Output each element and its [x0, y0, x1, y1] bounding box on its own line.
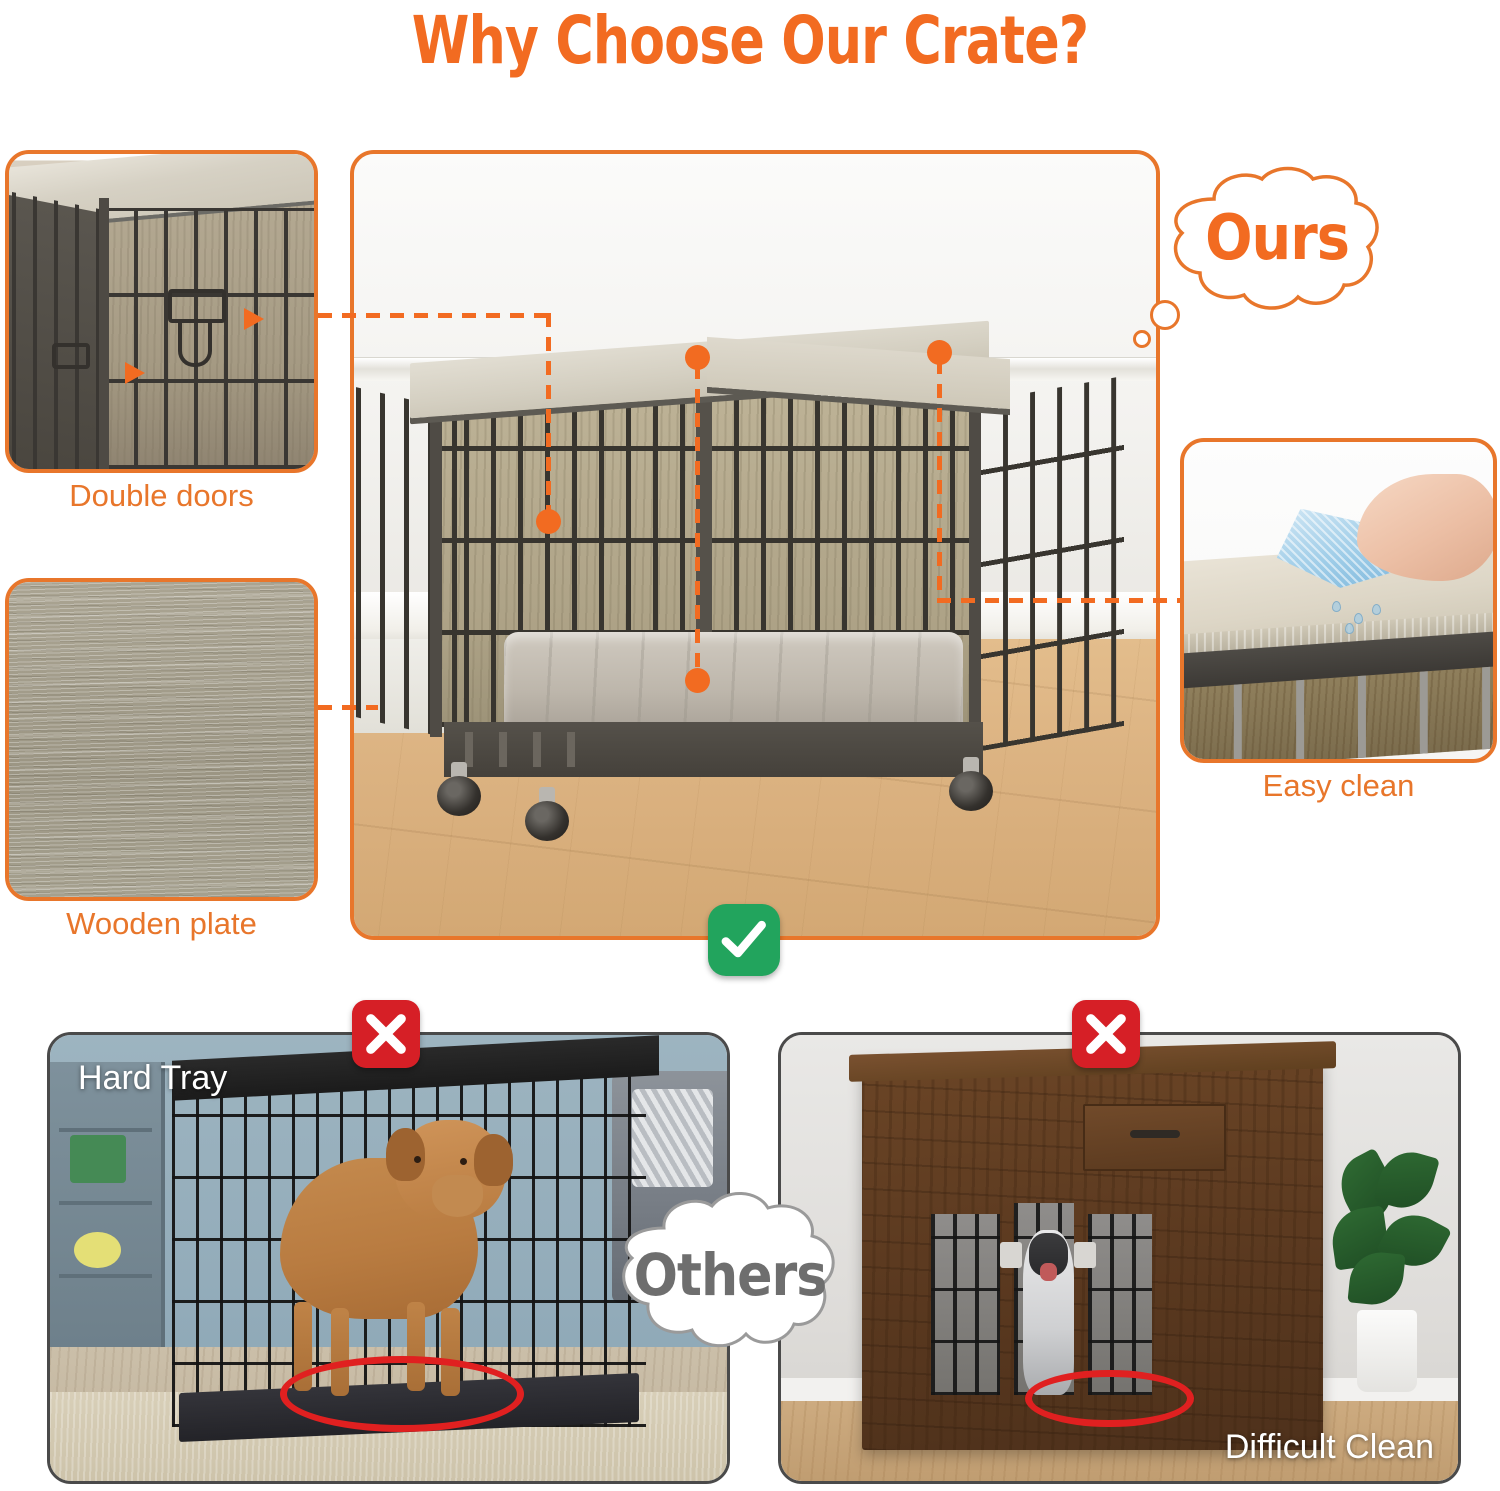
water-droplet-icon	[1345, 623, 1354, 634]
x-icon	[352, 1000, 420, 1068]
water-droplet-icon	[1354, 613, 1363, 624]
callout-dot-double-doors	[536, 509, 561, 534]
others-label: Others	[606, 1186, 854, 1364]
easy-clean-photo	[1184, 442, 1493, 759]
feature-thumb-double-doors[interactable]	[5, 150, 318, 473]
callout-line-double-doors-vert	[546, 313, 551, 521]
feature-caption-double-doors: Double doors	[5, 478, 318, 514]
callout-line-easy-clean	[937, 598, 1182, 603]
ours-label: Ours	[1152, 163, 1402, 318]
problem-highlight-ellipse	[1025, 1370, 1194, 1428]
pointer-arrow-icon	[125, 362, 145, 384]
feature-thumb-wooden-plate[interactable]	[5, 578, 318, 901]
feature-caption-wooden-plate: Wooden plate	[5, 906, 318, 942]
hero-product-panel[interactable]	[350, 150, 1160, 940]
difficult-clean-photo	[781, 1035, 1458, 1481]
x-icon	[1072, 1000, 1140, 1068]
product-crate	[410, 342, 1084, 842]
callout-line-wooden-plate	[318, 705, 378, 710]
caster-wheel	[525, 787, 569, 841]
potted-plant	[1329, 1151, 1444, 1392]
bubble-tail-small	[1133, 330, 1151, 348]
page-title: Why Choose Our Crate?	[90, 2, 1410, 79]
callout-line-top-vert	[695, 365, 700, 675]
hinge-icon	[1074, 1242, 1096, 1268]
caster-wheel	[437, 762, 481, 816]
door-latch-icon	[52, 343, 90, 369]
caster-wheel	[949, 757, 993, 811]
dog-photo	[280, 1120, 510, 1397]
wire-door	[1088, 1214, 1152, 1395]
overlay-label-difficult-clean: Difficult Clean	[1225, 1428, 1434, 1467]
hinge-icon	[1000, 1242, 1022, 1268]
hero-crate-photo	[354, 154, 1156, 936]
callout-dot-bottom	[685, 668, 710, 693]
bubble-tail-large	[1150, 300, 1180, 330]
feature-caption-easy-clean: Easy clean	[1180, 768, 1497, 804]
dog-photo	[1023, 1230, 1074, 1395]
door-latch-icon	[168, 289, 226, 323]
pointer-arrow-icon	[244, 308, 264, 330]
callout-line-right-vert	[937, 360, 942, 600]
shelf	[50, 1062, 165, 1365]
double-doors-photo	[9, 154, 314, 469]
wire-door	[931, 1214, 1000, 1395]
wood-grain-photo	[9, 582, 314, 897]
problem-highlight-ellipse	[280, 1356, 524, 1432]
feature-thumb-easy-clean[interactable]	[1180, 438, 1497, 763]
callout-line-double-doors	[318, 313, 550, 318]
check-icon	[708, 904, 780, 976]
drawer[interactable]	[1083, 1104, 1226, 1171]
infographic-root: Why Choose Our Crate? Double doors Woode…	[0, 0, 1500, 1491]
pet-bed-cushion	[504, 632, 962, 732]
comparison-panel-difficult-clean[interactable]: Difficult Clean	[778, 1032, 1461, 1484]
overlay-label-hard-tray: Hard Tray	[78, 1059, 227, 1098]
